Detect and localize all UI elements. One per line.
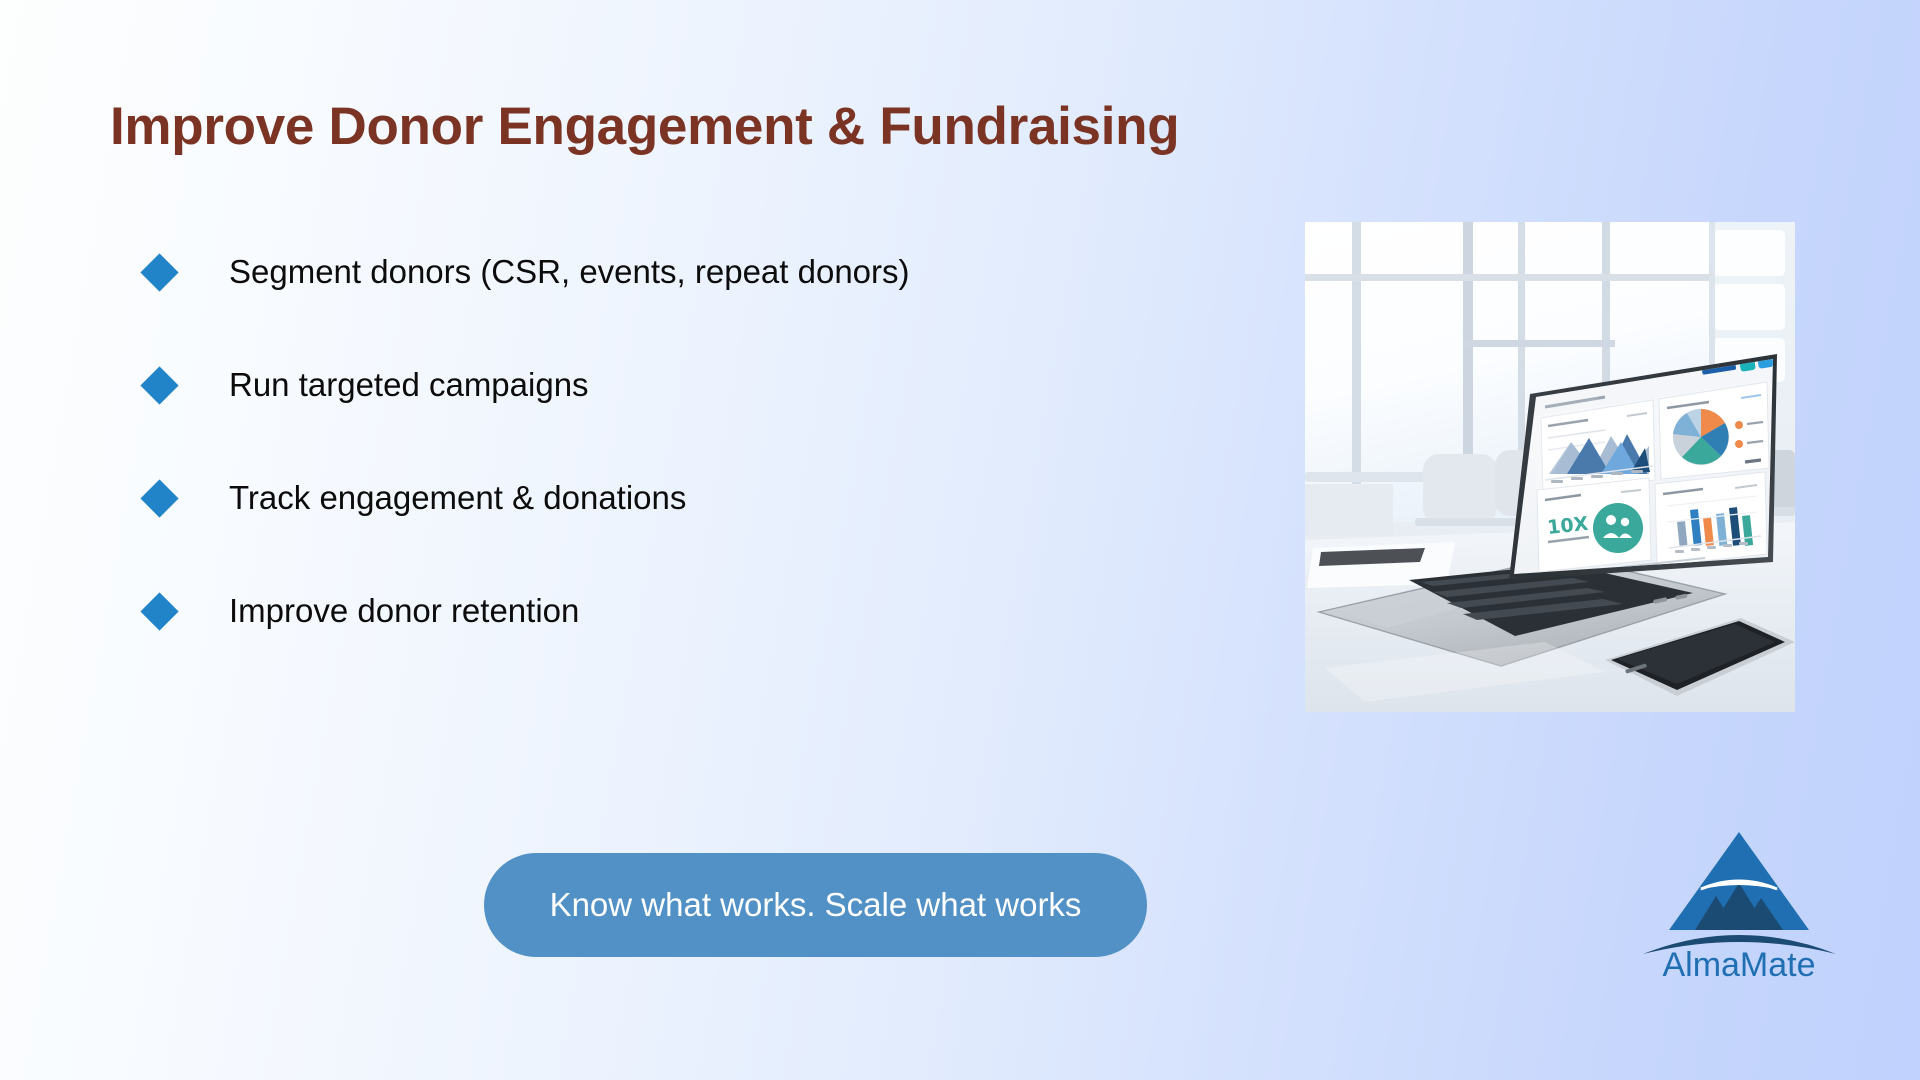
list-item: Improve donor retention: [146, 555, 1206, 668]
list-item: Run targeted campaigns: [146, 329, 1206, 442]
cta-button[interactable]: Know what works. Scale what works: [484, 853, 1147, 957]
list-item-label: Run targeted campaigns: [229, 367, 589, 403]
diamond-icon: [140, 366, 178, 404]
slide: Improve Donor Engagement & Fundraising S…: [0, 0, 1920, 1080]
diamond-icon: [140, 253, 178, 291]
list-item-label: Track engagement & donations: [229, 480, 686, 516]
page-title: Improve Donor Engagement & Fundraising: [110, 96, 1179, 157]
diamond-icon: [140, 479, 178, 517]
office-laptop-photo: 10X: [1305, 222, 1795, 712]
triangle-mountain-icon: [1643, 832, 1836, 954]
logo-wordmark: AlmaMate: [1662, 946, 1815, 980]
cta-button-label: Know what works. Scale what works: [550, 886, 1082, 924]
diamond-icon: [140, 592, 178, 630]
list-item-label: Improve donor retention: [229, 593, 579, 629]
list-item: Track engagement & donations: [146, 442, 1206, 555]
almamate-logo: AlmaMate: [1637, 828, 1842, 980]
svg-text:10X: 10X: [1546, 513, 1590, 539]
list-item: Segment donors (CSR, events, repeat dono…: [146, 216, 1206, 329]
bullet-list: Segment donors (CSR, events, repeat dono…: [146, 216, 1206, 668]
list-item-label: Segment donors (CSR, events, repeat dono…: [229, 254, 910, 290]
